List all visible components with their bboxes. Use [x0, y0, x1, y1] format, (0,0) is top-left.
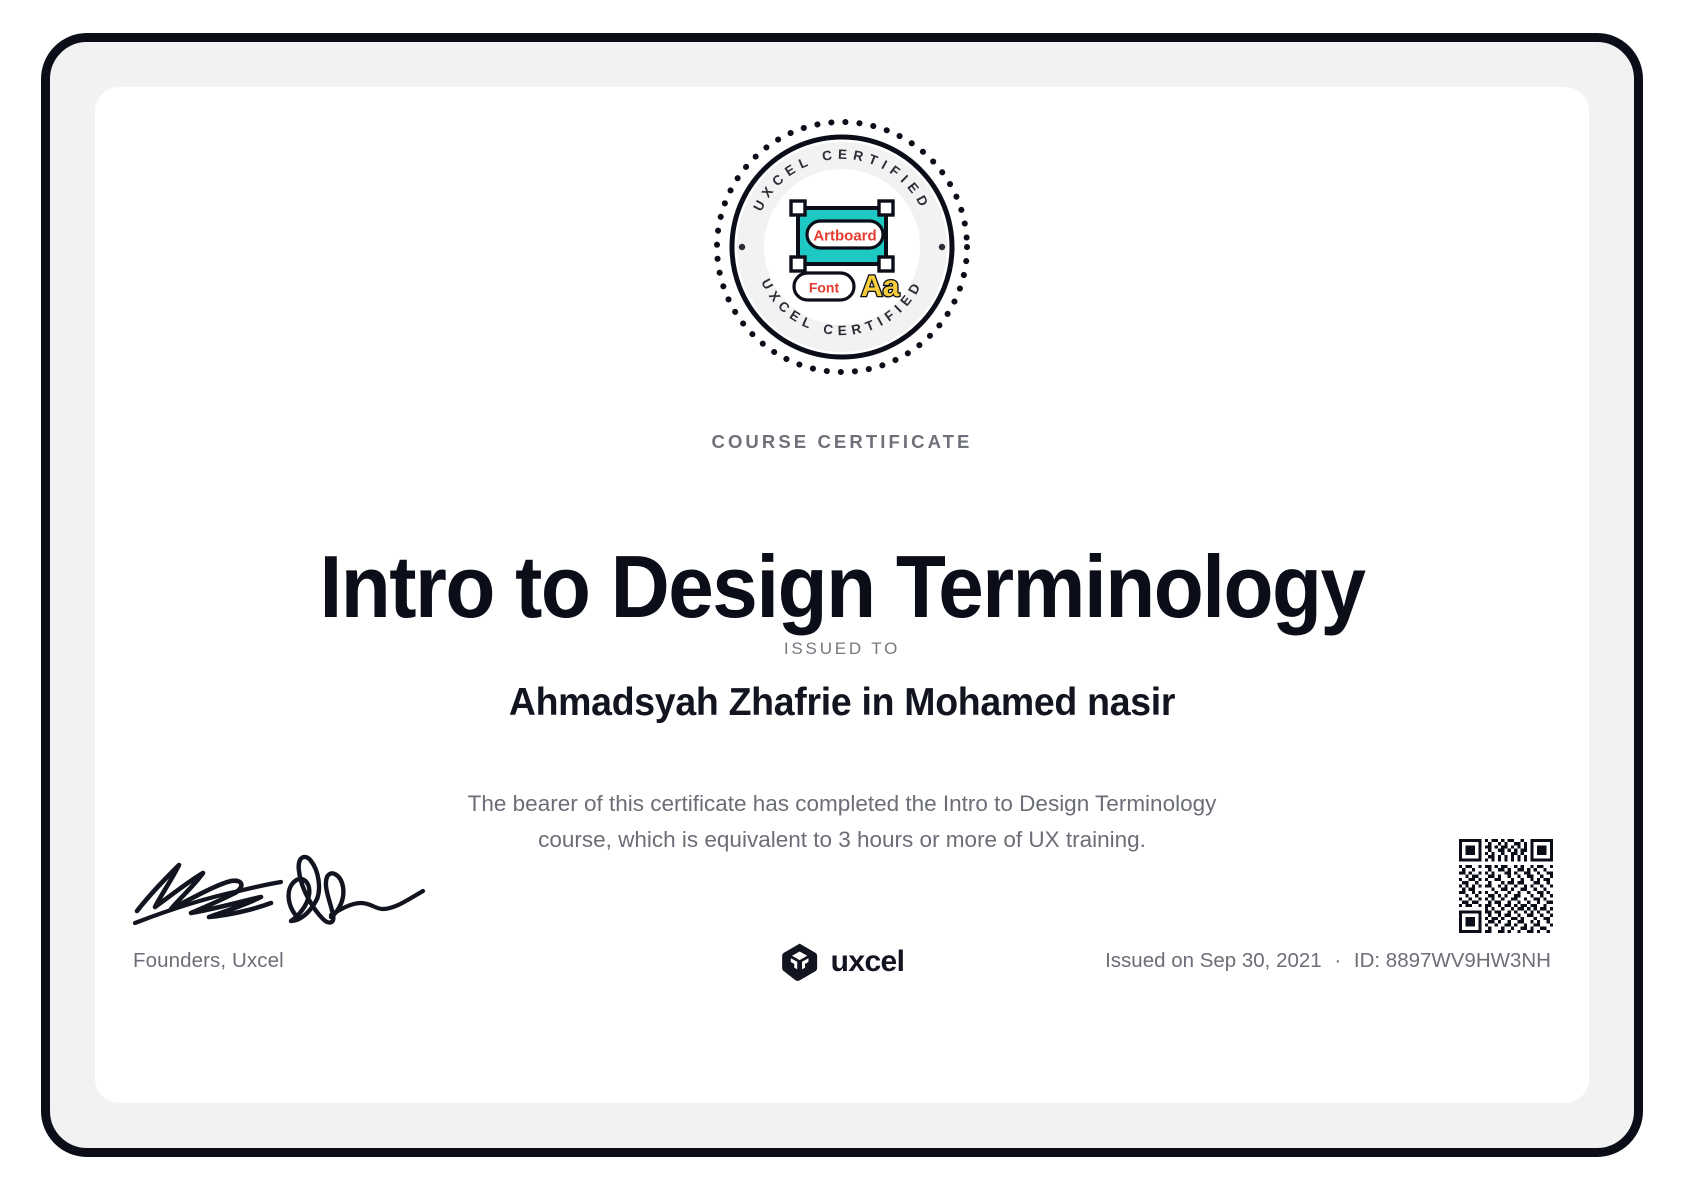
verification-qr-code[interactable]	[1459, 839, 1553, 933]
certificate-id: ID: 8897WV9HW3NH	[1354, 949, 1551, 972]
uxcel-logo: uxcel	[780, 942, 905, 982]
artboard-pill-label: Artboard	[813, 228, 876, 245]
font-sample-glyph: Aa	[861, 270, 900, 303]
issue-separator: ·	[1327, 949, 1348, 972]
uxcel-wordmark: uxcel	[831, 947, 905, 977]
artboard-illustration: Artboard Font Aa	[791, 201, 900, 303]
font-pill-label: Font	[809, 280, 840, 296]
signature-caption: Founders, Uxcel	[133, 949, 284, 973]
issue-metadata: Issued on Sep 30, 2021 · ID: 8897WV9HW3N…	[1105, 949, 1551, 973]
certificate-paper: UXCEL CERTIFIED UXCEL CERTIFIED	[95, 87, 1589, 1103]
certificate-description: The bearer of this certificate has compl…	[452, 786, 1232, 858]
course-certificate-kicker: COURSE CERTIFICATE	[95, 431, 1589, 453]
certificate-frame: UXCEL CERTIFIED UXCEL CERTIFIED	[41, 33, 1643, 1157]
qr-code-icon	[1459, 839, 1553, 933]
page-title: Intro to Design Terminology	[147, 538, 1536, 636]
seal-graphic: UXCEL CERTIFIED UXCEL CERTIFIED	[711, 116, 973, 378]
issued-on-date: Issued on Sep 30, 2021	[1105, 949, 1322, 972]
signature-icon	[131, 837, 451, 927]
issued-to-label: ISSUED TO	[95, 639, 1589, 659]
uxcel-certified-seal: UXCEL CERTIFIED UXCEL CERTIFIED	[711, 116, 973, 378]
recipient-name: Ahmadsyah Zhafrie in Mohamed nasir	[125, 679, 1559, 727]
uxcel-hexagon-icon	[780, 942, 820, 982]
founder-signatures	[131, 837, 451, 927]
